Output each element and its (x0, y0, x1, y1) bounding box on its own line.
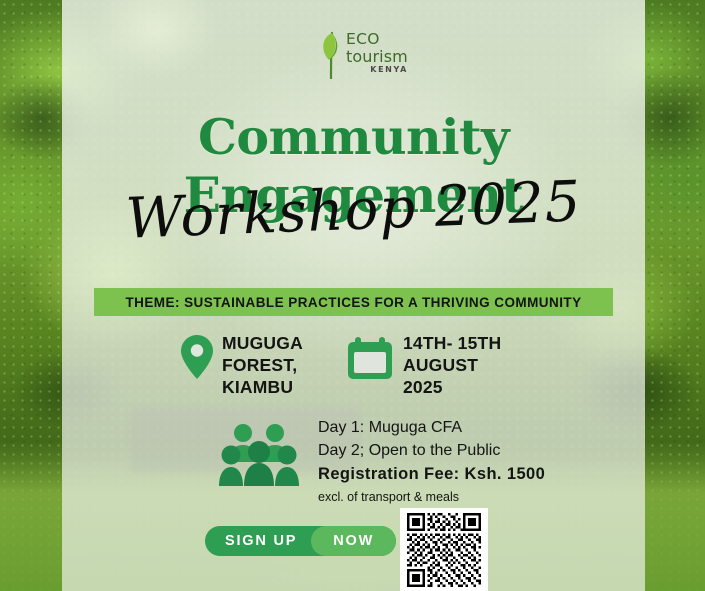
date-line-1: 14TH- 15TH (403, 332, 501, 354)
logo-line-tourism: tourism (346, 49, 408, 65)
date-block: 14TH- 15TH AUGUST 2025 (347, 332, 501, 398)
eco-tourism-kenya-logo: ECO tourism KENYA (318, 24, 408, 82)
date-line-2: AUGUST (403, 354, 501, 376)
detail-fee-note: excl. of transport & meals (318, 489, 545, 507)
logo-wordmark: ECO tourism KENYA (346, 32, 408, 74)
calendar-icon (347, 335, 393, 381)
location-block: MUGUGA FOREST, KIAMBU (180, 332, 303, 398)
poster-content: ECO tourism KENYA Community Engagement W… (62, 0, 645, 591)
map-pin-icon (180, 334, 214, 380)
details-block: Day 1: Muguga CFA Day 2; Open to the Pub… (318, 417, 545, 507)
location-line-1: MUGUGA (222, 332, 303, 354)
location-text: MUGUGA FOREST, KIAMBU (222, 332, 303, 398)
people-group-icon (219, 424, 301, 486)
poster: ECO tourism KENYA Community Engagement W… (0, 0, 705, 591)
theme-text: THEME: SUSTAINABLE PRACTICES FOR A THRIV… (125, 295, 581, 310)
location-line-3: KIAMBU (222, 376, 303, 398)
sign-up-label: SIGN UP (205, 533, 311, 549)
logo-line-eco: ECO (346, 32, 408, 48)
detail-registration-fee: Registration Fee: Ksh. 1500 (318, 463, 545, 486)
theme-banner: THEME: SUSTAINABLE PRACTICES FOR A THRIV… (94, 288, 613, 316)
date-line-3: 2025 (403, 376, 501, 398)
detail-day-1: Day 1: Muguga CFA (318, 417, 545, 440)
sign-up-now-label: NOW (311, 526, 396, 556)
leaf-icon (318, 27, 344, 79)
sign-up-button[interactable]: SIGN UP NOW (205, 526, 396, 556)
detail-day-2: Day 2; Open to the Public (318, 440, 545, 463)
date-text: 14TH- 15TH AUGUST 2025 (403, 332, 501, 398)
logo-line-kenya: KENYA (346, 66, 408, 74)
qr-code-icon[interactable] (400, 508, 488, 591)
location-line-2: FOREST, (222, 354, 303, 376)
